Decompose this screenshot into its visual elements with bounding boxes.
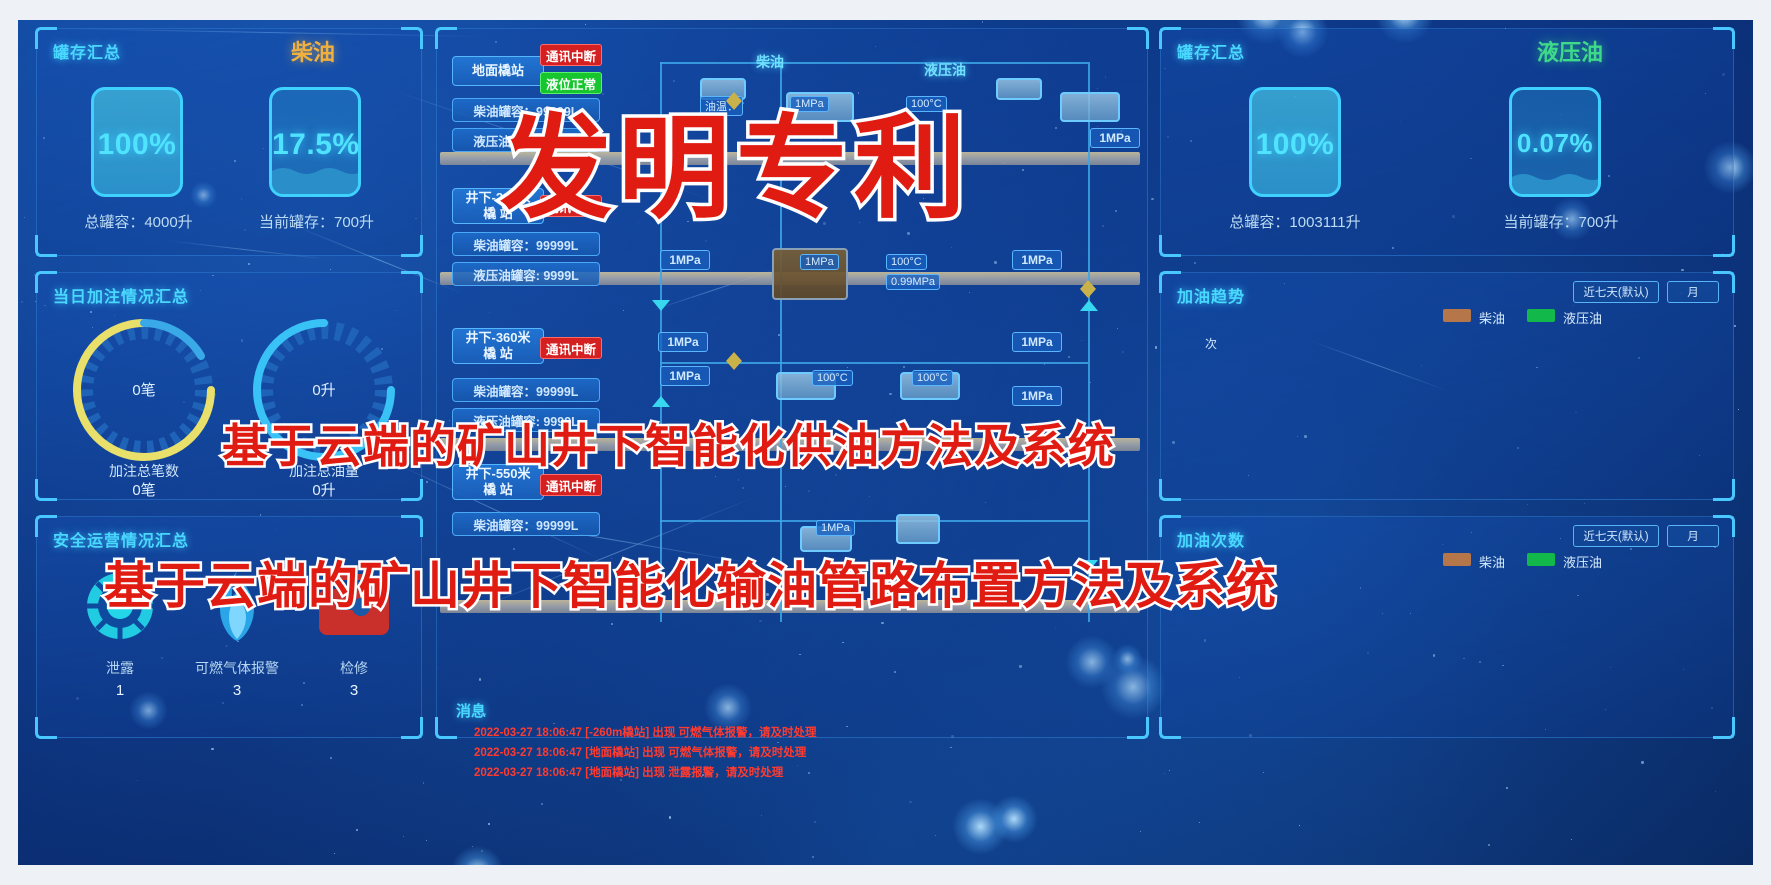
pressure-tag-6: 1MPa bbox=[660, 366, 710, 386]
count-legend-label-diesel: 柴油 bbox=[1479, 552, 1505, 571]
refuel-count-value: 0笔 bbox=[69, 479, 219, 500]
right-fuel-type-label: 液压油 bbox=[1537, 35, 1603, 67]
refuel-volume-dial-center: 0升 bbox=[249, 379, 399, 400]
left-current-tank-caption: 当前罐存：700升 bbox=[229, 211, 404, 232]
refuel-trend-title: 加油趋势 bbox=[1177, 283, 1245, 307]
count-legend-label-hydraulic: 液压油 bbox=[1563, 552, 1602, 571]
right-total-tank-gauge: 100% bbox=[1249, 87, 1341, 197]
right-total-tank-caption: 总罐容：1003111升 bbox=[1185, 211, 1405, 232]
hydraulic-pump-top bbox=[1060, 92, 1120, 122]
trend-legend-swatch-hydraulic bbox=[1527, 309, 1555, 322]
window-frame-right bbox=[1753, 0, 1771, 885]
corner-decoration bbox=[35, 479, 57, 501]
pressure-tag-2: 1MPa bbox=[660, 250, 710, 270]
count-range-month-button[interactable]: 月 bbox=[1667, 525, 1719, 547]
corner-decoration bbox=[35, 235, 57, 257]
corner-decoration bbox=[1127, 717, 1149, 739]
hydraulic-tank-top bbox=[996, 78, 1042, 100]
daily-refuel-title: 当日加注情况汇总 bbox=[53, 283, 189, 307]
flow-arrow-up-1 bbox=[652, 396, 670, 407]
right-tank-summary-title: 罐存汇总 bbox=[1177, 39, 1245, 63]
window-frame-top bbox=[0, 0, 1771, 20]
trend-range-month-button[interactable]: 月 bbox=[1667, 281, 1719, 303]
diesel-section-label: 柴油 bbox=[756, 52, 784, 72]
corner-decoration bbox=[401, 271, 423, 293]
message-row: 2022-03-27 18:06:47 [地面橇站] 出现 泄露报警，请及时处理 bbox=[474, 764, 783, 780]
refuel-count-dial-center: 0笔 bbox=[69, 379, 219, 400]
corner-decoration bbox=[1713, 479, 1735, 501]
left-total-tank-gauge: 100% bbox=[91, 87, 183, 197]
corner-decoration bbox=[401, 515, 423, 537]
pressure-tag-3: 1MPa bbox=[1012, 250, 1062, 270]
count-range-week-button[interactable]: 近七天(默认) bbox=[1573, 525, 1659, 547]
corner-decoration bbox=[401, 479, 423, 501]
watermark-line-1: 基于云端的矿山井下智能化供油方法及系统 bbox=[222, 410, 1115, 476]
readout-temp-550: 1MPa bbox=[816, 520, 855, 536]
corner-decoration bbox=[401, 717, 423, 739]
left-fuel-type-label: 柴油 bbox=[291, 35, 335, 67]
station-360-name[interactable]: 井下-360米 橇 站 bbox=[452, 328, 544, 364]
pressure-tag-7: 1MPa bbox=[1012, 386, 1062, 406]
level-550-tank bbox=[896, 514, 940, 544]
dashboard-root: 罐存汇总 柴油 100% 总罐容：4000升 17.5% 当前罐存：700升 当… bbox=[0, 0, 1771, 885]
right-current-tank-percent: 0.07% bbox=[1512, 128, 1598, 159]
corner-decoration bbox=[35, 717, 57, 739]
hydraulic-section-label: 液压油 bbox=[924, 60, 966, 80]
corner-decoration bbox=[435, 717, 457, 739]
refuel-volume-value: 0升 bbox=[249, 479, 399, 500]
right-current-tank-gauge: 0.07% bbox=[1509, 87, 1601, 197]
corner-decoration bbox=[435, 27, 457, 49]
left-current-tank-gauge: 17.5% bbox=[269, 87, 361, 197]
left-tank-summary-title: 罐存汇总 bbox=[53, 39, 121, 63]
readout-temp-mid: 100°C bbox=[886, 254, 927, 270]
count-legend-swatch-diesel bbox=[1443, 553, 1471, 566]
readout-pressure-mid-2: 0.99MPa bbox=[886, 274, 940, 290]
trend-legend-swatch-diesel bbox=[1443, 309, 1471, 322]
watermark-line-2: 基于云端的矿山井下智能化输油管路布置方法及系统 bbox=[104, 546, 1277, 618]
safety-item-maintenance-name: 检修 bbox=[299, 658, 409, 678]
corner-decoration bbox=[1713, 717, 1735, 739]
message-row: 2022-03-27 18:06:47 [-260m橇站] 出现 可燃气体报警，… bbox=[474, 724, 817, 740]
pressure-tag-5: 1MPa bbox=[1012, 332, 1062, 352]
refuel-count-dial: 0笔 bbox=[69, 315, 219, 465]
left-tank-summary-panel: 罐存汇总 柴油 100% 总罐容：4000升 17.5% 当前罐存：700升 bbox=[36, 28, 422, 256]
right-total-tank-percent: 100% bbox=[1252, 128, 1338, 162]
left-current-tank-percent: 17.5% bbox=[272, 128, 358, 162]
readout-pressure-mid: 1MPa bbox=[800, 254, 839, 270]
message-row: 2022-03-27 18:06:47 [地面橇站] 出现 可燃气体报警，请及时… bbox=[474, 744, 806, 760]
right-current-tank-caption: 当前罐存：700升 bbox=[1461, 211, 1661, 232]
right-tank-summary-panel: 罐存汇总 液压油 100% 总罐容：1003111升 0.07% 当前罐存：70… bbox=[1160, 28, 1734, 256]
readout-temp-360-a: 100°C bbox=[812, 370, 853, 386]
corner-decoration bbox=[1159, 235, 1181, 257]
pressure-tag-1: 1MPa bbox=[1090, 128, 1140, 148]
top-header-pipe bbox=[660, 62, 1088, 64]
station-360-comm-status: 通讯中断 bbox=[540, 337, 602, 359]
flow-arrow-down-1 bbox=[652, 300, 670, 311]
trend-legend-label-hydraulic: 液压油 bbox=[1563, 308, 1602, 327]
readout-temp-360-b: 100°C bbox=[912, 370, 953, 386]
safety-item-leak-count: 1 bbox=[65, 682, 175, 699]
pressure-tag-4: 1MPa bbox=[658, 332, 708, 352]
safety-item-gas-alarm-name: 可燃气体报警 bbox=[177, 658, 297, 678]
count-legend-swatch-hydraulic bbox=[1527, 553, 1555, 566]
left-total-tank-caption: 总罐容：4000升 bbox=[51, 211, 226, 232]
corner-decoration bbox=[1159, 479, 1181, 501]
trend-legend-label-diesel: 柴油 bbox=[1479, 308, 1505, 327]
window-frame-left bbox=[0, 0, 18, 885]
window-frame-bottom bbox=[0, 865, 1771, 885]
tank-liquid-fill bbox=[1512, 180, 1598, 194]
corner-decoration bbox=[1159, 717, 1181, 739]
refuel-trend-panel: 加油趋势 近七天(默认) 月 柴油 液压油 次 00.20.40.60.810.… bbox=[1160, 272, 1734, 500]
corner-decoration bbox=[1127, 27, 1149, 49]
station-550-diesel-capacity: 柴油罐容：99999L bbox=[452, 512, 600, 536]
corner-decoration bbox=[401, 235, 423, 257]
left-total-tank-percent: 100% bbox=[94, 128, 180, 162]
flow-arrow-up-2 bbox=[1080, 300, 1098, 311]
lower-header-pipe bbox=[660, 520, 1088, 522]
trend-y-axis-unit: 次 bbox=[1205, 335, 1217, 352]
tank-liquid-fill bbox=[272, 174, 358, 194]
station-200-hydraulic-capacity: 液压油罐容: 9999L bbox=[452, 262, 600, 286]
mid-header-pipe bbox=[660, 362, 1088, 364]
messages-title: 消息 bbox=[456, 700, 486, 721]
watermark-headline: 发明专利 bbox=[500, 78, 972, 240]
refuel-count-label: 加注总笔数 bbox=[69, 461, 219, 481]
station-ground-comm-status: 通讯中断 bbox=[540, 44, 602, 66]
safety-item-leak-name: 泄露 bbox=[65, 658, 175, 678]
station-550-comm-status: 通讯中断 bbox=[540, 474, 602, 496]
safety-item-maintenance-count: 3 bbox=[299, 682, 409, 699]
trend-range-week-button[interactable]: 近七天(默认) bbox=[1573, 281, 1659, 303]
safety-item-gas-alarm-count: 3 bbox=[177, 682, 297, 699]
station-360-diesel-capacity: 柴油罐容：99999L bbox=[452, 378, 600, 402]
corner-decoration bbox=[401, 27, 423, 49]
corner-decoration bbox=[1713, 27, 1735, 49]
corner-decoration bbox=[1713, 235, 1735, 257]
